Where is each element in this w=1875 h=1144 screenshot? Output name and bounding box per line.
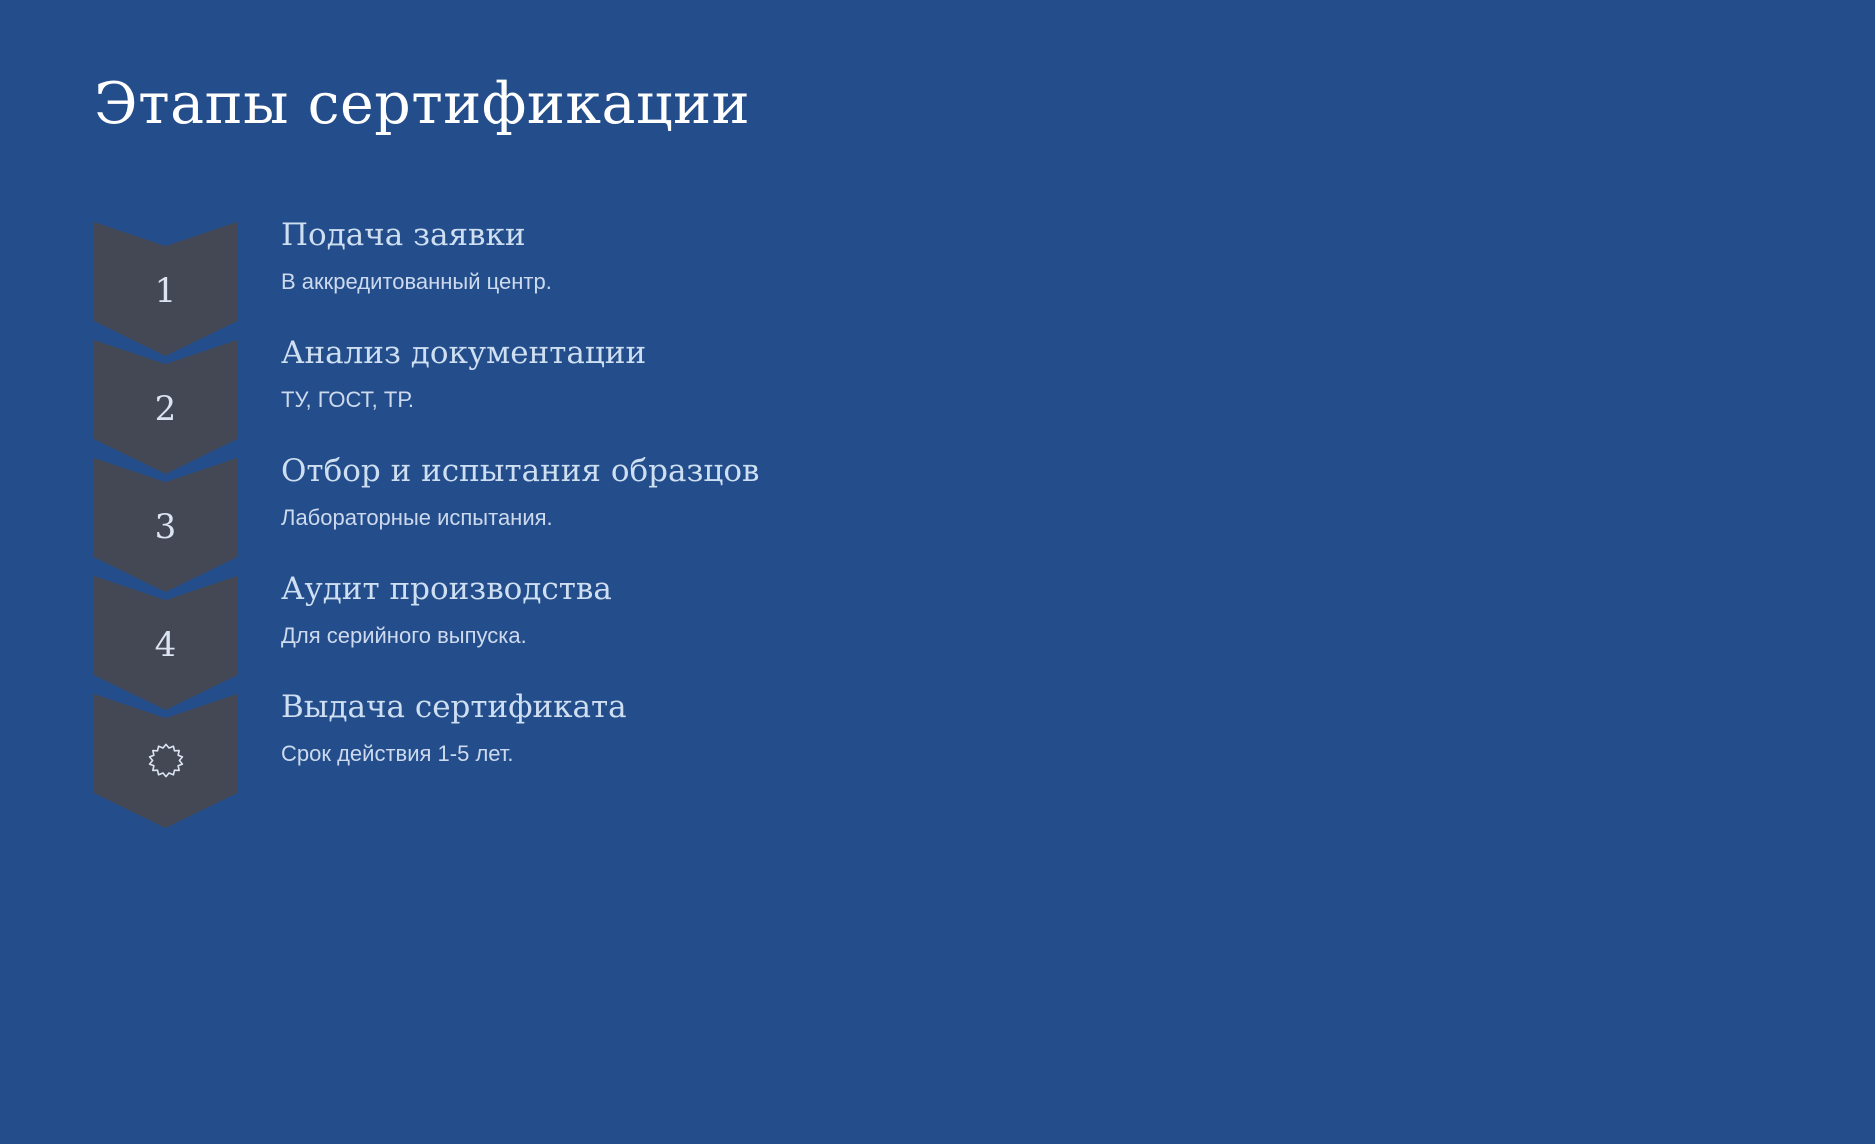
step-number: 1: [155, 270, 177, 308]
steps-list: 1 Подача заявки В аккредитованный центр.…: [94, 222, 1694, 795]
step-item: 4 Аудит производства Для серийного выпус…: [94, 576, 1694, 677]
step-title: Выдача сертификата: [281, 688, 1381, 727]
step-description: ТУ, ГОСТ, ТР.: [281, 386, 1381, 415]
certification-stages-page: Этапы сертификации 1 Подача заявки В акк…: [0, 0, 1875, 1144]
step-item: 1 Подача заявки В аккредитованный центр.: [94, 222, 1694, 323]
step-description: Лабораторные испытания.: [281, 504, 1381, 533]
step-item: 2 Анализ документации ТУ, ГОСТ, ТР.: [94, 340, 1694, 441]
step-title: Подача заявки: [281, 216, 1381, 255]
step-badge: 1: [94, 222, 237, 356]
step-text: Подача заявки В аккредитованный центр.: [281, 216, 1381, 296]
step-text: Отбор и испытания образцов Лабораторные …: [281, 452, 1381, 532]
step-title: Анализ документации: [281, 334, 1381, 373]
step-description: Срок действия 1-5 лет.: [281, 740, 1381, 769]
step-text: Выдача сертификата Срок действия 1-5 лет…: [281, 688, 1381, 768]
step-text: Аудит производства Для серийного выпуска…: [281, 570, 1381, 650]
step-description: В аккредитованный центр.: [281, 268, 1381, 297]
certificate-seal-icon: [146, 739, 186, 783]
step-description: Для серийного выпуска.: [281, 622, 1381, 651]
step-number: 2: [155, 388, 177, 426]
step-number: 4: [155, 624, 177, 662]
step-item: 3 Отбор и испытания образцов Лабораторны…: [94, 458, 1694, 559]
step-badge: 4: [94, 576, 237, 710]
step-number: 3: [155, 506, 177, 544]
step-title: Отбор и испытания образцов: [281, 452, 1381, 491]
step-title: Аудит производства: [281, 570, 1381, 609]
step-badge: 2: [94, 340, 237, 474]
page-title: Этапы сертификации: [94, 72, 750, 138]
step-item: Выдача сертификата Срок действия 1-5 лет…: [94, 694, 1694, 795]
step-badge: 3: [94, 458, 237, 592]
step-text: Анализ документации ТУ, ГОСТ, ТР.: [281, 334, 1381, 414]
step-badge: [94, 694, 237, 828]
